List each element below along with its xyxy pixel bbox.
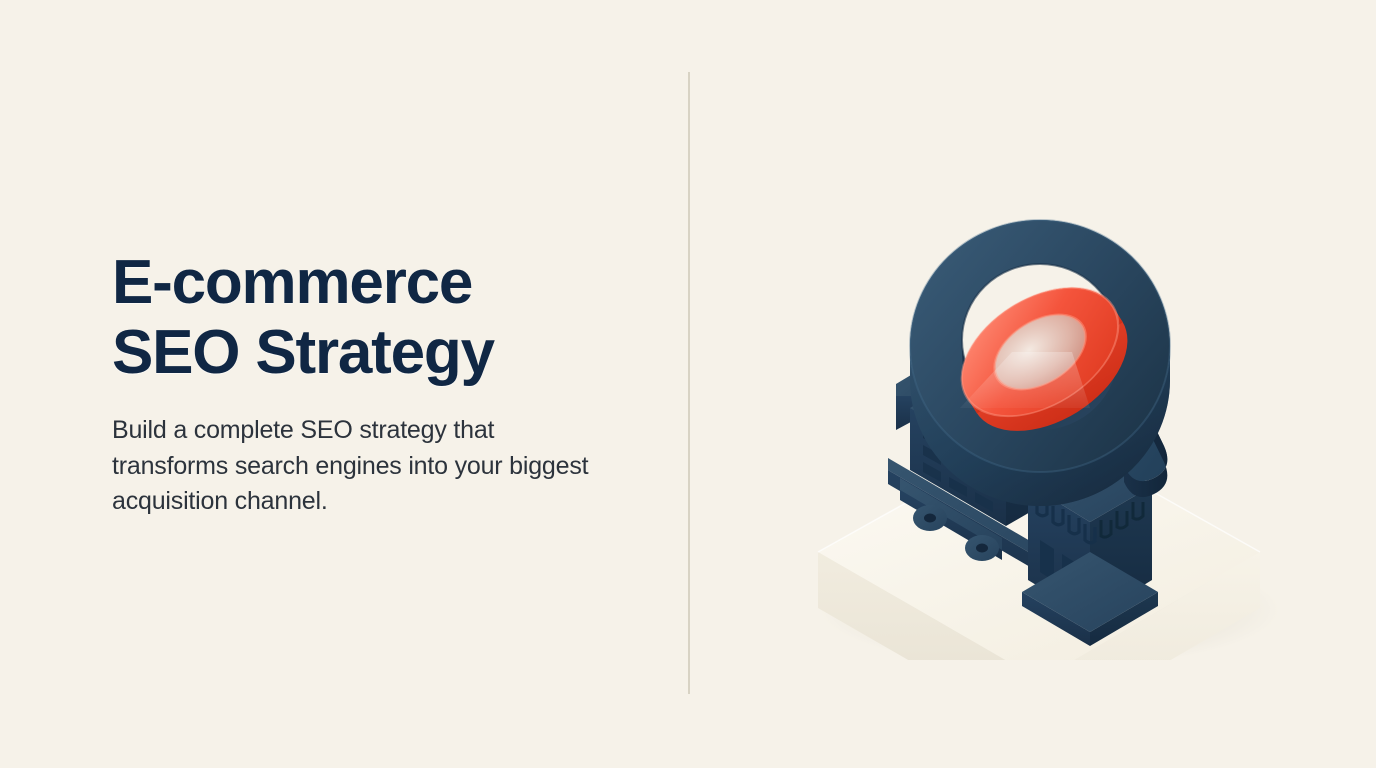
page-subtitle: Build a complete SEO strategy that trans… [112, 413, 592, 520]
slide-root: E-commerce SEO Strategy Build a complete… [0, 0, 1376, 768]
magnifier [910, 220, 1170, 506]
text-column: E-commerce SEO Strategy Build a complete… [112, 0, 612, 768]
seo-ecommerce-illustration [760, 140, 1320, 660]
cart-wheel-rear [913, 505, 947, 531]
cart-wheel-front [965, 535, 999, 561]
page-title: E-commerce SEO Strategy [112, 248, 494, 387]
vertical-divider [688, 72, 690, 694]
